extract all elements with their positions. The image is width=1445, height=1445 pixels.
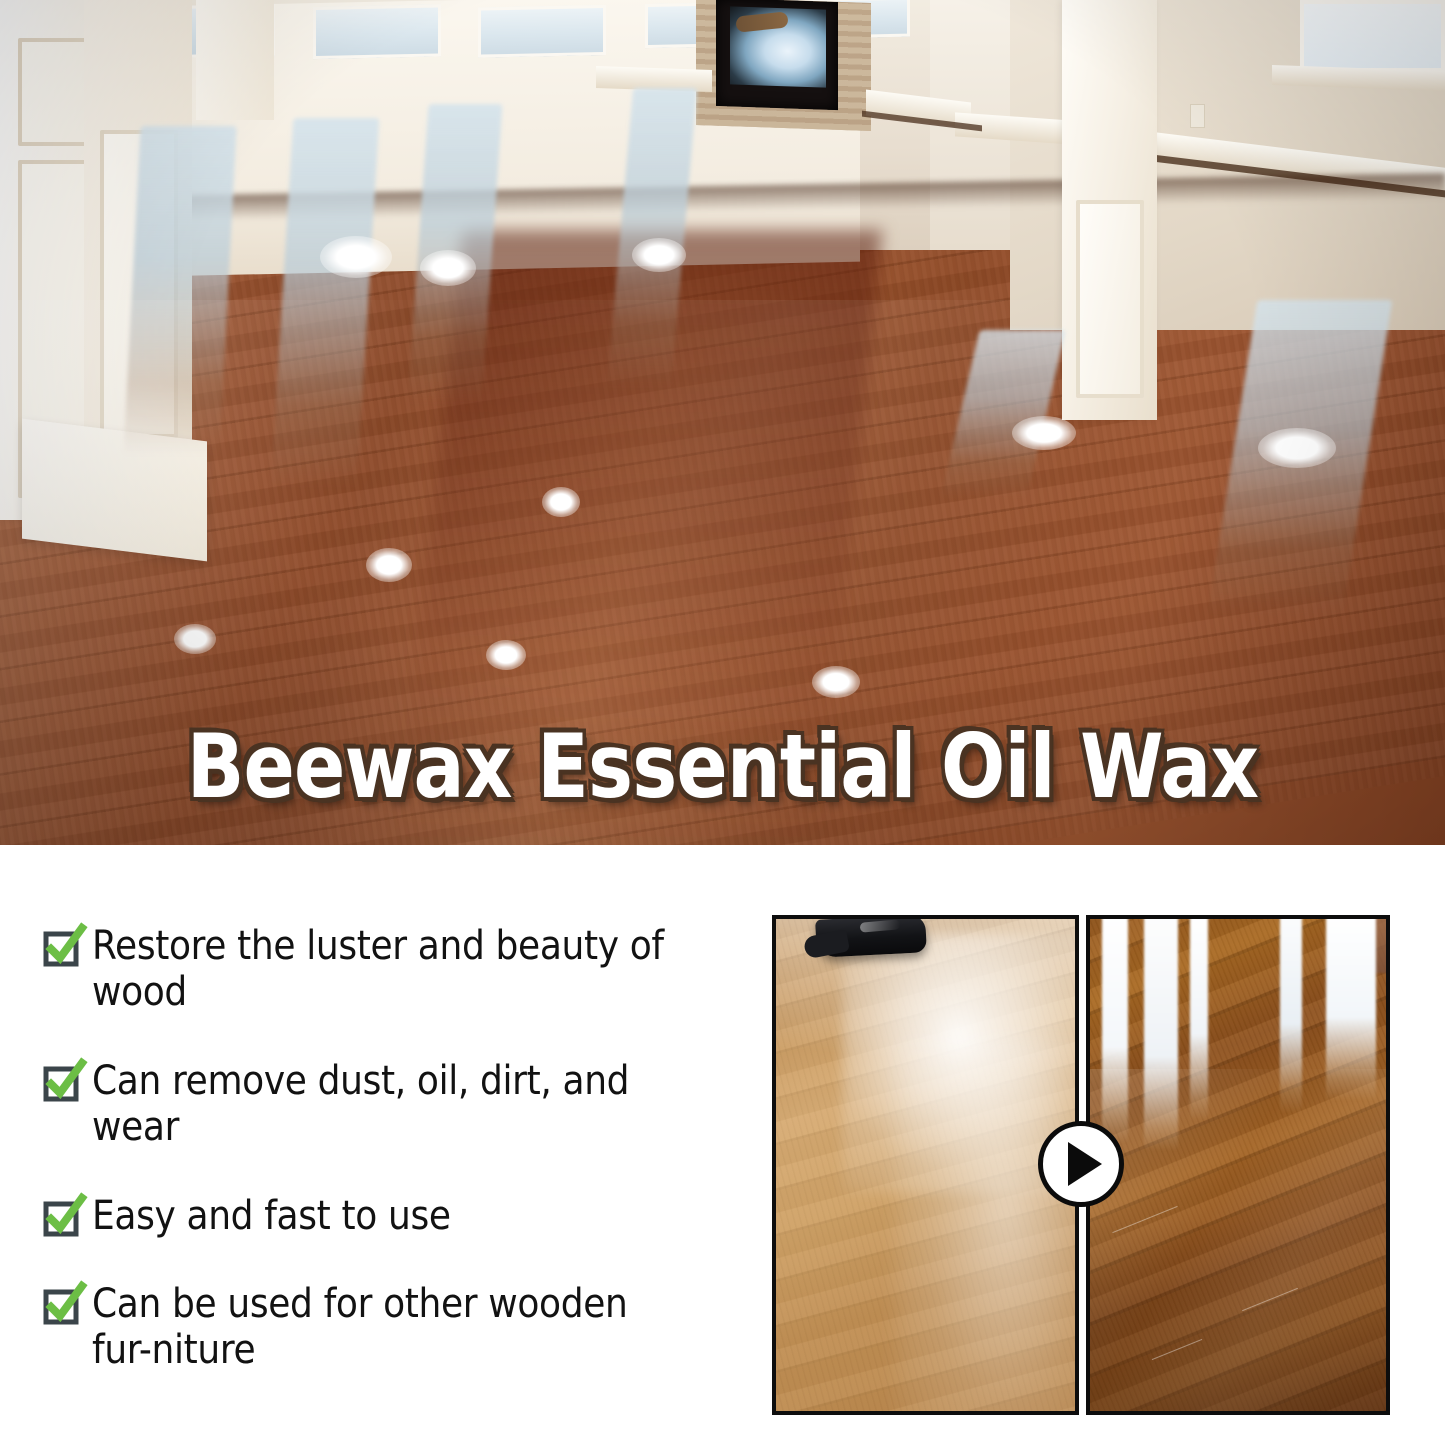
- hero-column-middle: [196, 0, 274, 120]
- floor-window-reflection: [123, 126, 236, 456]
- door-glass-pane: [478, 5, 606, 58]
- hero-window-right: [1300, 0, 1445, 72]
- door-glass-pane: [313, 4, 441, 59]
- floor-specular-highlight: [1012, 416, 1076, 450]
- floor-specular-highlight: [320, 236, 392, 278]
- feature-list: Restore the luster and beauty of wood Ca…: [43, 923, 743, 1374]
- before-dull-glare: [896, 1039, 1079, 1415]
- feature-text: Restore the luster and beauty of wood: [92, 923, 678, 1016]
- floor-specular-highlight: [542, 487, 580, 517]
- after-floor-shadow: [1090, 1219, 1390, 1415]
- floor-specular-highlight: [420, 250, 476, 286]
- after-photo: [1086, 915, 1390, 1415]
- product-title: Beewax Essential Oil Wax: [101, 723, 1344, 811]
- floor-specular-highlight: [174, 624, 216, 654]
- hero-column-right: [1062, 0, 1157, 420]
- floor-specular-highlight: [366, 548, 412, 582]
- floor-specular-highlight: [486, 640, 526, 670]
- feature-text: Easy and fast to use: [92, 1193, 678, 1239]
- floor-specular-highlight: [1258, 428, 1336, 468]
- list-item: Can be used for other wooden fur-niture: [43, 1281, 743, 1374]
- checkbox-checked-icon: [43, 1201, 81, 1239]
- checkbox-checked-icon: [43, 931, 81, 969]
- checkbox-checked-icon: [43, 1066, 81, 1104]
- list-item: Can remove dust, oil, dirt, and wear: [43, 1058, 743, 1151]
- features-section: Restore the luster and beauty of wood Ca…: [0, 845, 1445, 1445]
- list-item: Restore the luster and beauty of wood: [43, 923, 743, 1016]
- floor-specular-highlight: [812, 666, 860, 698]
- before-photo: [772, 915, 1079, 1415]
- feature-text: Can be used for other wooden fur-niture: [92, 1281, 678, 1374]
- feature-text: Can remove dust, oil, dirt, and wear: [92, 1058, 678, 1151]
- list-item: Easy and fast to use: [43, 1193, 743, 1239]
- before-after-comparison: [772, 915, 1390, 1415]
- play-button[interactable]: [1038, 1121, 1124, 1207]
- checkbox-checked-icon: [43, 1289, 81, 1327]
- wall-outlet: [1190, 104, 1205, 128]
- play-icon: [1068, 1142, 1102, 1186]
- floor-specular-highlight: [632, 238, 686, 272]
- product-ad-page: Beewax Essential Oil Wax Restore the lus…: [0, 0, 1445, 1445]
